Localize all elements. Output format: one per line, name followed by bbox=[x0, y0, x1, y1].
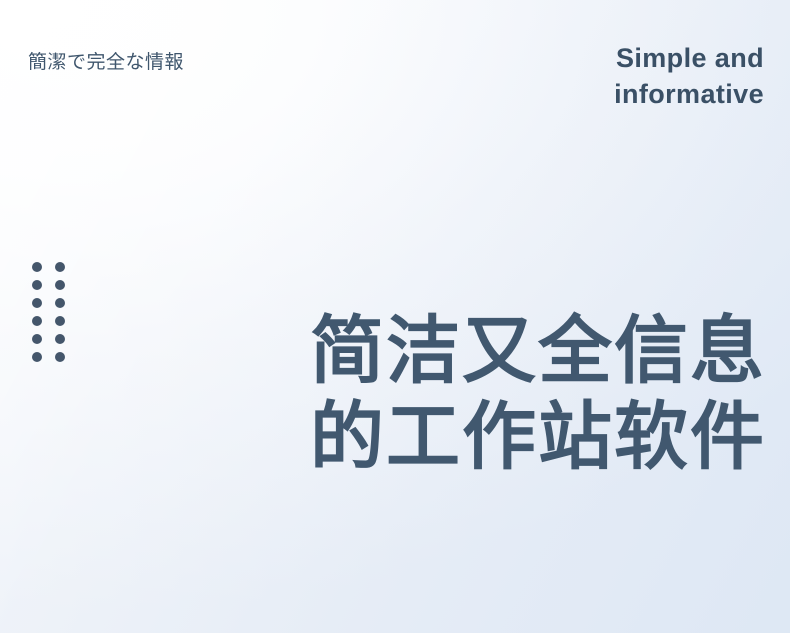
poster-canvas: 簡潔で完全な情報 Simple and informative 简洁又全信息 的… bbox=[0, 0, 790, 633]
grid-dot bbox=[55, 298, 65, 308]
english-heading-line2: informative bbox=[0, 77, 764, 113]
english-heading-line1: Simple and bbox=[0, 41, 764, 77]
page-title: 简洁又全信息 的工作站软件 bbox=[0, 308, 766, 480]
english-heading: Simple and informative bbox=[0, 41, 764, 112]
grid-dot bbox=[55, 280, 65, 290]
page-title-line2: 的工作站软件 bbox=[0, 394, 766, 480]
grid-dot bbox=[32, 280, 42, 290]
grid-dot bbox=[32, 298, 42, 308]
grid-dot bbox=[32, 262, 42, 272]
page-title-line1: 简洁又全信息 bbox=[0, 308, 766, 394]
grid-dot bbox=[55, 262, 65, 272]
